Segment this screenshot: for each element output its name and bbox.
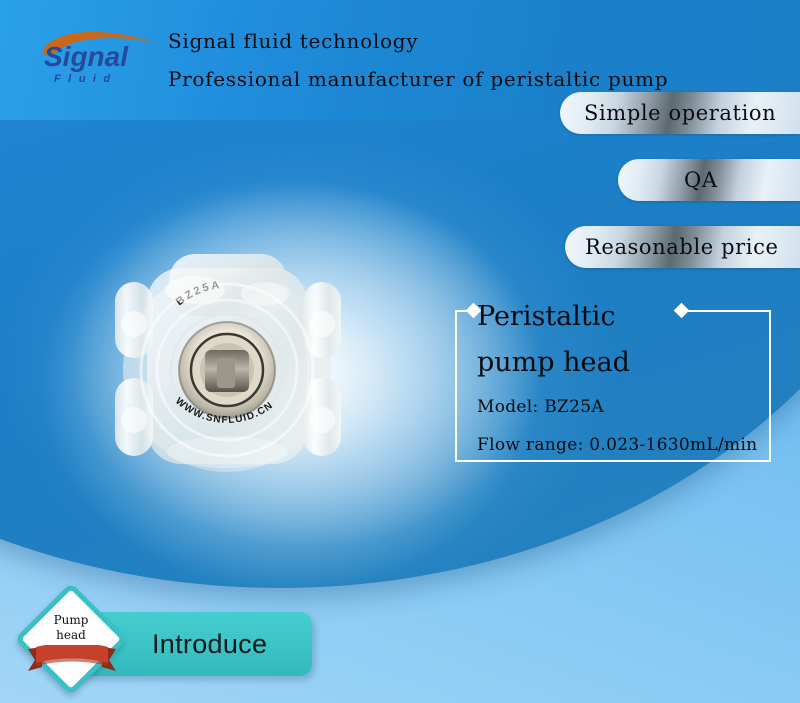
frame-border-right bbox=[769, 310, 771, 462]
logo-subtext: F l u i d bbox=[54, 73, 112, 85]
product-image-pump-head: BZ25A WWW.SNFLUID.CN bbox=[95, 238, 360, 488]
info-row-model: Model: BZ25A bbox=[477, 397, 604, 417]
frame-border-bottom bbox=[455, 460, 771, 462]
logo-mark-icon: Signal F l u i d bbox=[38, 24, 160, 86]
feature-pill-reasonable-price[interactable]: Reasonable price bbox=[565, 226, 800, 268]
feature-pill-qa[interactable]: QA bbox=[618, 159, 800, 201]
frame-border-top-right bbox=[683, 310, 771, 312]
feature-pill-simple-operation[interactable]: Simple operation bbox=[560, 92, 800, 134]
info-title-line-1: Peristaltic bbox=[477, 293, 616, 340]
logo-wordmark: Signal bbox=[44, 41, 129, 72]
feature-pill-label: Simple operation bbox=[560, 101, 776, 125]
feature-pill-label: QA bbox=[618, 168, 718, 192]
feature-pill-label: Reasonable price bbox=[565, 235, 778, 259]
badge-text-line-2: head bbox=[20, 628, 122, 643]
pump-head-badge[interactable]: Pump head bbox=[20, 595, 122, 695]
company-logo: Signal F l u i d bbox=[38, 24, 160, 86]
badge-text: Pump head bbox=[20, 613, 122, 643]
frame-border-left bbox=[455, 310, 457, 462]
badge-text-line-1: Pump bbox=[20, 613, 122, 628]
pump-head-illustration-icon: BZ25A WWW.SNFLUID.CN bbox=[95, 238, 360, 488]
info-row-flow-range: Flow range: 0.023-1630mL/min bbox=[477, 435, 757, 455]
header-line-1: Signal fluid technology bbox=[168, 22, 768, 60]
info-title-line-2: pump head bbox=[477, 343, 630, 383]
header-text-block: Signal fluid technology Professional man… bbox=[168, 22, 768, 98]
ribbon-icon bbox=[26, 645, 118, 679]
slide-canvas: Signal F l u i d Signal fluid technology… bbox=[0, 0, 800, 703]
product-info-frame: Peristaltic pump head Model: BZ25A Flow … bbox=[455, 310, 771, 462]
